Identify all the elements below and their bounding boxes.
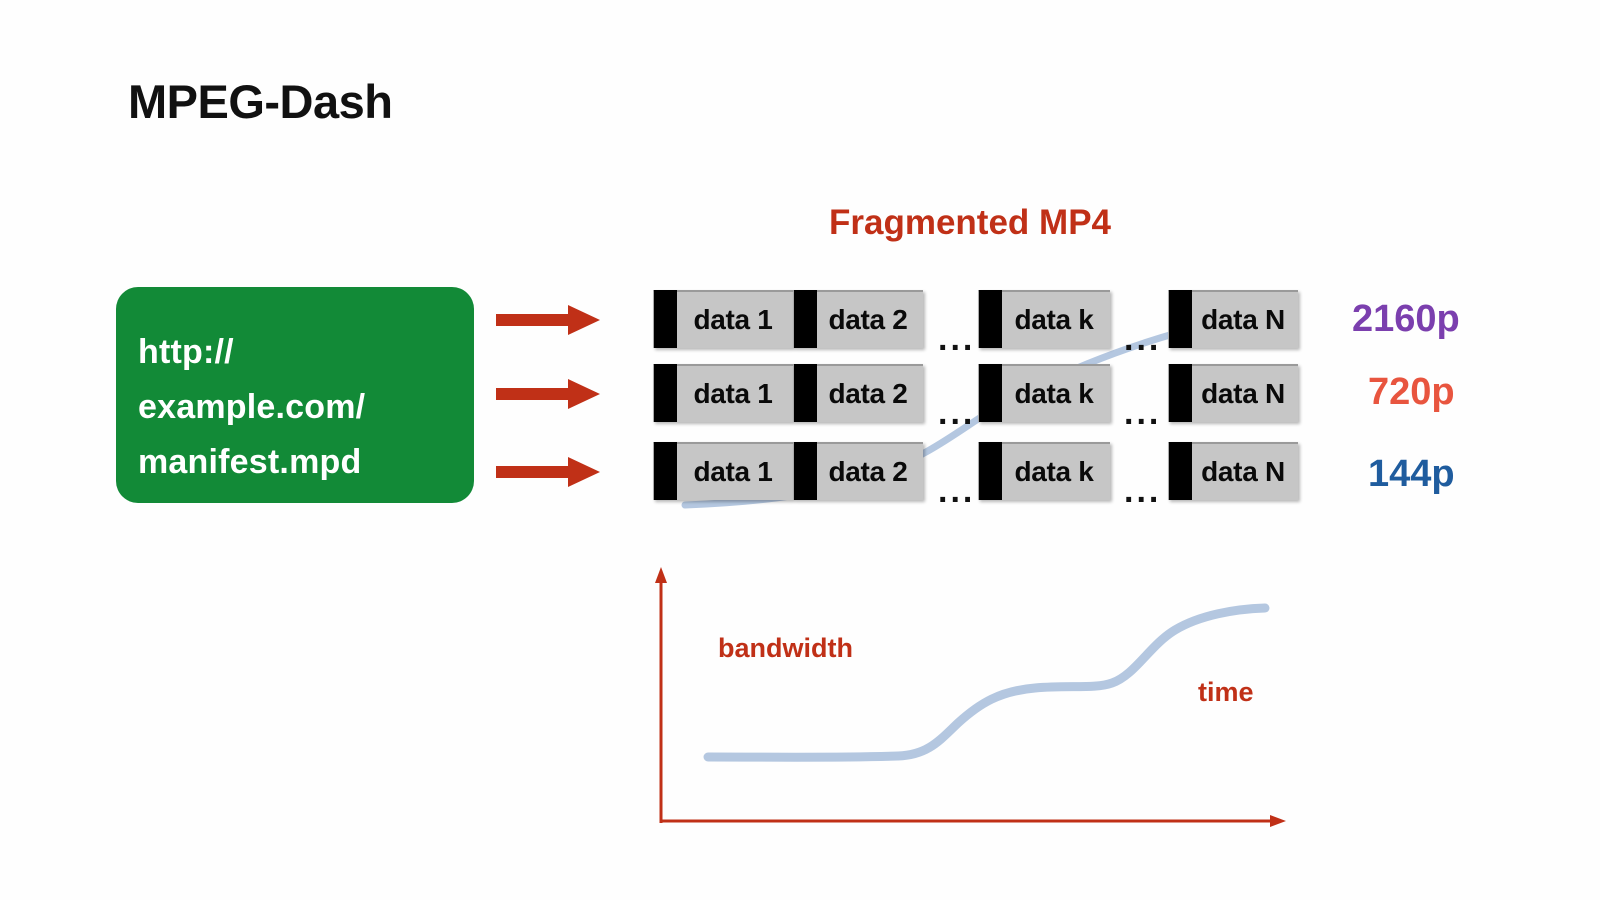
segment-header-icon [794, 364, 817, 422]
slide-canvas: MPEG-Dash Fragmented MP4 http:// example… [0, 0, 1600, 900]
segment-ellipsis: ... [1124, 396, 1161, 430]
segment-label: data N [1192, 456, 1298, 488]
segment-label: data 1 [677, 456, 793, 488]
manifest-url-line-2: example.com/ [138, 380, 474, 435]
arrow-right-icon-row-1 [496, 303, 600, 337]
segment-box[interactable]: data k [978, 290, 1110, 348]
segment-header-icon [794, 290, 817, 348]
segment-label: data k [1002, 456, 1110, 488]
segment-label: data k [1002, 304, 1110, 336]
segment-label: data N [1192, 304, 1298, 336]
segment-row-2160p: data 1 data 2 data k data N [653, 290, 1298, 352]
segment-row-144p: data 1 data 2 data k data N [653, 442, 1298, 504]
segment-header-icon [794, 442, 817, 500]
segment-label: data N [1192, 378, 1298, 410]
segment-box[interactable]: data N [1168, 442, 1298, 500]
manifest-url-line-3: manifest.mpd [138, 435, 474, 490]
segment-header-icon [1169, 290, 1192, 348]
segment-box[interactable]: data k [978, 442, 1110, 500]
chart-xlabel: time [1198, 677, 1254, 708]
segment-header-icon [979, 290, 1002, 348]
quality-label-2160p: 2160p [1352, 298, 1460, 341]
segment-header-icon [979, 364, 1002, 422]
segment-box[interactable]: data k [978, 364, 1110, 422]
arrow-right-icon-row-2 [496, 377, 600, 411]
segment-label: data 1 [677, 378, 793, 410]
segment-label: data 1 [677, 304, 793, 336]
segment-ellipsis: ... [1124, 474, 1161, 508]
segment-row-720p: data 1 data 2 data k data N [653, 364, 1298, 426]
segment-header-icon [1169, 442, 1192, 500]
segment-label: data 2 [817, 456, 923, 488]
segment-box[interactable]: data N [1168, 364, 1298, 422]
segment-header-icon [1169, 364, 1192, 422]
segment-box[interactable]: data 2 [793, 364, 923, 422]
segment-box[interactable]: data 1 [653, 290, 793, 348]
segment-ellipsis: ... [938, 322, 975, 356]
segment-label: data 2 [817, 378, 923, 410]
arrow-right-icon-row-3 [496, 455, 600, 489]
segment-box[interactable]: data 2 [793, 442, 923, 500]
manifest-url-box: http:// example.com/ manifest.mpd [116, 287, 474, 503]
segment-ellipsis: ... [938, 396, 975, 430]
page-title: MPEG-Dash [128, 74, 393, 129]
segment-label: data 2 [817, 304, 923, 336]
quality-label-144p: 144p [1368, 453, 1455, 496]
segment-ellipsis: ... [938, 474, 975, 508]
segment-box[interactable]: data 1 [653, 442, 793, 500]
quality-label-720p: 720p [1368, 371, 1455, 414]
segment-header-icon [654, 364, 677, 422]
segment-box[interactable]: data N [1168, 290, 1298, 348]
segment-ellipsis: ... [1124, 322, 1161, 356]
segment-header-icon [654, 442, 677, 500]
segment-label: data k [1002, 378, 1110, 410]
manifest-url-line-1: http:// [138, 325, 474, 380]
segment-box[interactable]: data 2 [793, 290, 923, 348]
chart-ylabel: bandwidth [718, 633, 853, 664]
segment-header-icon [979, 442, 1002, 500]
segment-header-icon [654, 290, 677, 348]
bandwidth-time-chart: bandwidth time [640, 555, 1320, 855]
fragmented-mp4-heading: Fragmented MP4 [800, 203, 1140, 243]
segment-box[interactable]: data 1 [653, 364, 793, 422]
